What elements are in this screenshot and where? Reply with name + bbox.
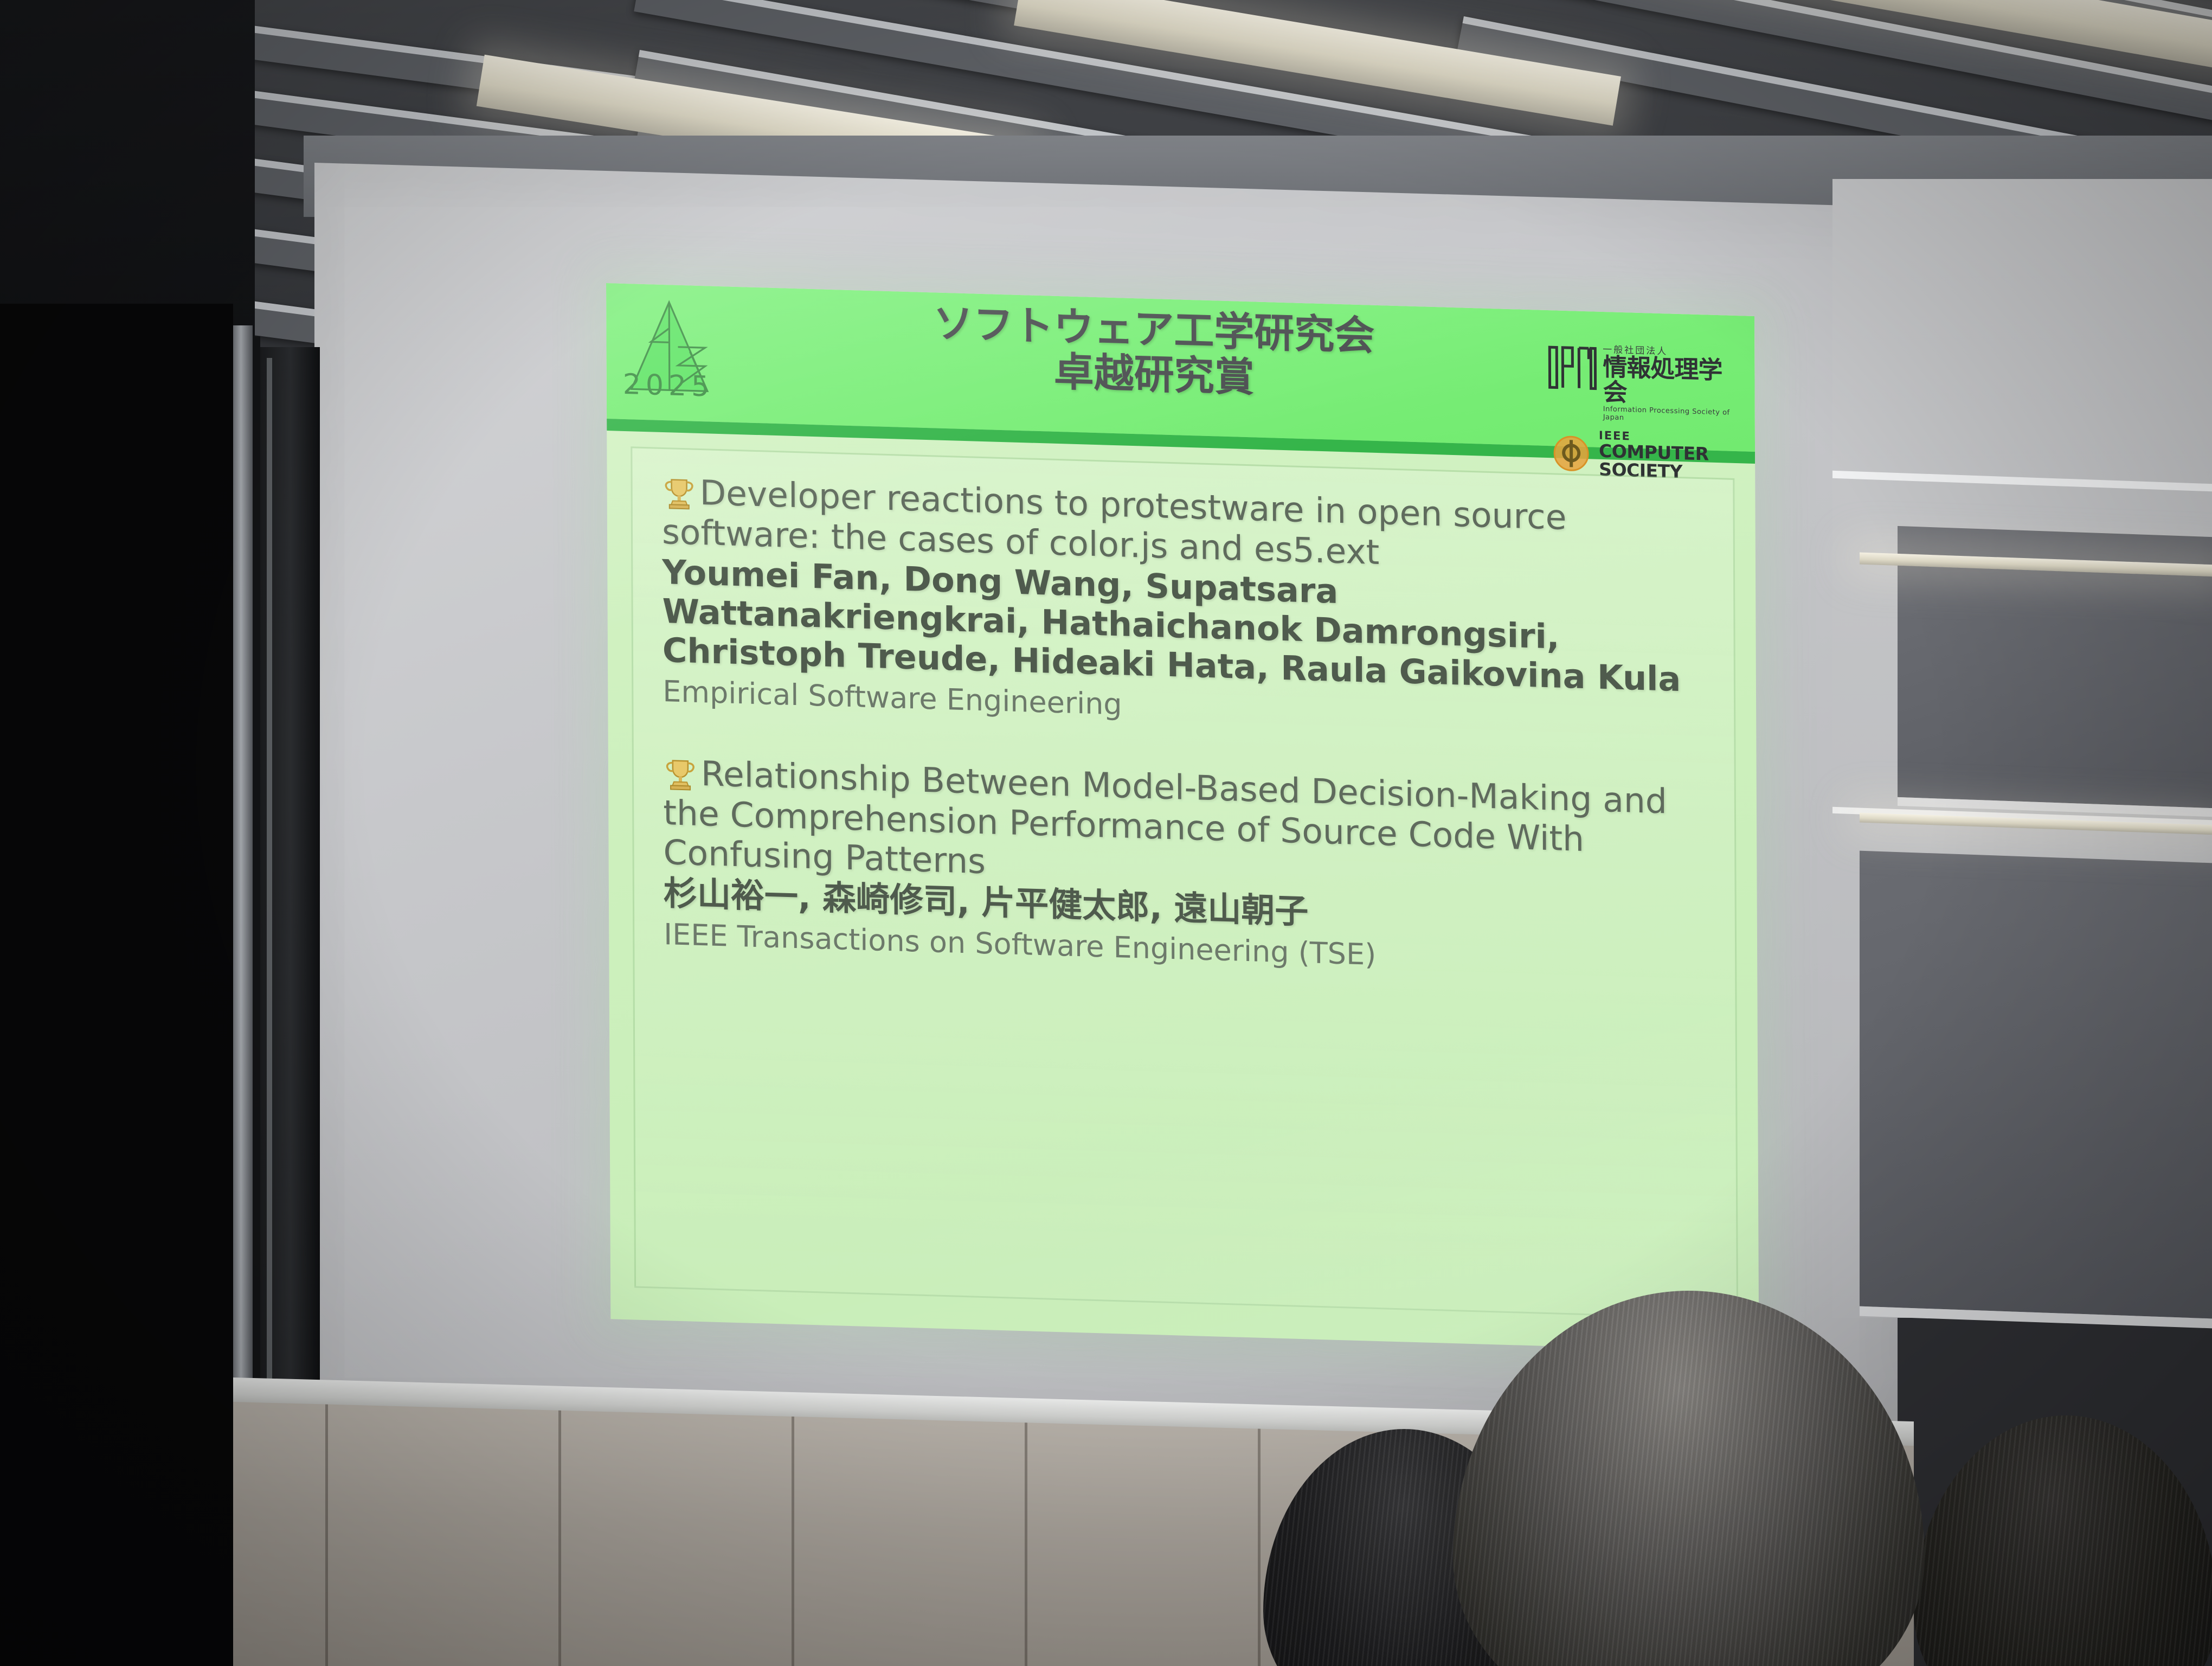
screenshot-root: 2025 ソフトウェア工学研究会 卓越研究賞	[0, 0, 2212, 1666]
award-entry: Developer reactions to protestware in op…	[662, 472, 1693, 739]
ipsj-name-en: Information Processing Society of Japan	[1603, 405, 1743, 425]
ipsj-logo: 一般社団法人 情報処理学会 Information Processing Soc…	[1547, 344, 1743, 425]
dark-alcove	[0, 304, 233, 1666]
trophy-icon	[663, 756, 698, 792]
panel-divider	[1258, 1428, 1261, 1666]
ieee-cs-text: IEEE COMPUTER SOCIETY	[1599, 430, 1709, 482]
ieee-cs-mark-icon	[1551, 433, 1591, 474]
panel-divider	[1025, 1422, 1027, 1666]
projector-screen-housing	[253, 347, 320, 1453]
panel-divider	[558, 1411, 561, 1666]
organization-logos: 一般社団法人 情報処理学会 Information Processing Soc…	[1547, 344, 1743, 483]
panel-divider	[792, 1417, 794, 1666]
trophy-icon	[662, 475, 697, 511]
award-title: Relationship Between Model-Based Decisio…	[663, 754, 1667, 882]
ses-logo-year: 2025	[623, 368, 721, 403]
audience-head	[1914, 1415, 2212, 1666]
award-entry: Relationship Between Model-Based Decisio…	[663, 753, 1694, 982]
wall-board-lower	[1860, 851, 2212, 1329]
slide-content-box: Developer reactions to protestware in op…	[631, 446, 1738, 1319]
ipsj-mark-icon	[1547, 344, 1597, 392]
panel-divider	[325, 1404, 328, 1666]
ipsj-name-ja: 情報処理学会	[1603, 355, 1742, 408]
slide-title: ソフトウェア工学研究会 卓越研究賞	[834, 298, 1474, 407]
housing-highlight	[267, 358, 272, 1443]
screen-side-frame	[233, 325, 253, 1453]
projected-slide: 2025 ソフトウェア工学研究会 卓越研究賞	[606, 283, 1759, 1352]
ipsj-text: 一般社団法人 情報処理学会 Information Processing Soc…	[1603, 345, 1743, 425]
screen-side-frame-shadow	[253, 336, 260, 1453]
